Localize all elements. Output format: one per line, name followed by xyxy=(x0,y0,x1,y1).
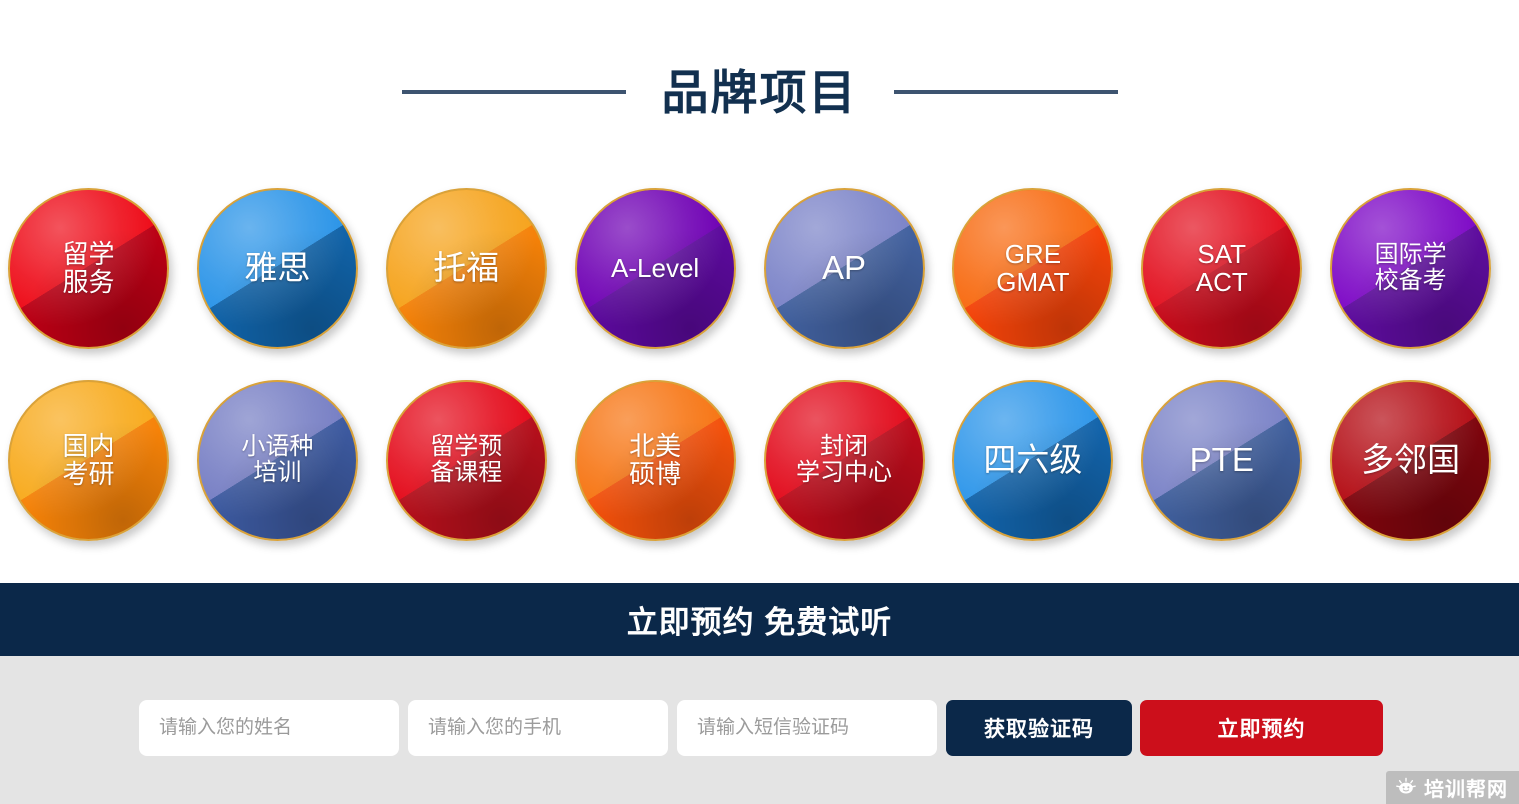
page-title: 品牌项目 xyxy=(662,69,858,116)
program-bubble-label: 北美 硕博 xyxy=(623,432,687,488)
program-cell: 留学预 备课程 xyxy=(386,380,575,541)
cta-banner-text: 立即预约 免费试听 xyxy=(627,597,893,642)
program-bubble[interactable]: 留学 服务 xyxy=(8,188,169,349)
program-bubble-label: 四六级 xyxy=(977,442,1088,478)
program-bubble-label: 留学预 备课程 xyxy=(424,434,508,486)
program-bubble[interactable]: GRE GMAT xyxy=(952,188,1113,349)
watermark-text: 培训帮网 xyxy=(1424,773,1508,802)
program-row-1: 留学 服务雅思托福A-LevelAPGRE GMATSAT ACT国际学 校备考 xyxy=(0,172,1519,364)
program-bubble[interactable]: 四六级 xyxy=(952,380,1113,541)
program-cell: 国内 考研 xyxy=(8,380,197,541)
program-bubble-label: 小语种 培训 xyxy=(235,434,319,486)
program-bubble-label: A-Level xyxy=(605,254,705,282)
program-cell: 托福 xyxy=(386,188,575,349)
program-cell: SAT ACT xyxy=(1141,188,1330,349)
program-cell: A-Level xyxy=(575,188,764,349)
sms-code-input[interactable] xyxy=(677,700,937,756)
program-cell: AP xyxy=(764,188,953,349)
program-bubble-label: AP xyxy=(816,250,872,286)
program-cell: 留学 服务 xyxy=(8,188,197,349)
program-bubble-label: 托福 xyxy=(427,250,505,286)
program-cell: 雅思 xyxy=(197,188,386,349)
program-bubble[interactable]: PTE xyxy=(1141,380,1302,541)
sun-face-icon xyxy=(1395,777,1417,799)
program-bubble-label: GRE GMAT xyxy=(990,240,1075,296)
program-bubble[interactable]: A-Level xyxy=(575,188,736,349)
cta-banner: 立即预约 免费试听 xyxy=(0,583,1519,656)
program-cell: GRE GMAT xyxy=(952,188,1141,349)
name-input[interactable] xyxy=(139,700,399,756)
title-rule-left xyxy=(402,90,626,94)
program-bubble-label: 封闭 学习中心 xyxy=(790,434,898,486)
program-bubble[interactable]: 国际学 校备考 xyxy=(1330,188,1491,349)
program-bubble[interactable]: 多邻国 xyxy=(1330,380,1491,541)
program-bubble-label: 留学 服务 xyxy=(56,240,120,296)
program-row-2: 国内 考研小语种 培训留学预 备课程北美 硕博封闭 学习中心四六级PTE多邻国 xyxy=(0,364,1519,556)
program-bubble-label: 多邻国 xyxy=(1355,442,1466,478)
program-bubble[interactable]: 托福 xyxy=(386,188,547,349)
program-bubble[interactable]: 封闭 学习中心 xyxy=(764,380,925,541)
program-bubble[interactable]: 雅思 xyxy=(197,188,358,349)
program-bubble[interactable]: 小语种 培训 xyxy=(197,380,358,541)
program-bubble[interactable]: 留学预 备课程 xyxy=(386,380,547,541)
booking-form: 获取验证码 立即预约 xyxy=(139,700,1383,756)
program-bubble-label: 国内 考研 xyxy=(56,432,120,488)
program-bubble[interactable]: SAT ACT xyxy=(1141,188,1302,349)
program-bubble-label: 雅思 xyxy=(238,250,316,286)
page-header: 品牌项目 xyxy=(0,0,1519,172)
get-code-button[interactable]: 获取验证码 xyxy=(946,700,1132,756)
submit-booking-button[interactable]: 立即预约 xyxy=(1140,700,1383,756)
program-bubble-label: PTE xyxy=(1184,442,1260,478)
program-cell: 四六级 xyxy=(952,380,1141,541)
site-watermark: 培训帮网 xyxy=(1386,771,1519,804)
program-cell: 小语种 培训 xyxy=(197,380,386,541)
title-rule-right xyxy=(894,90,1118,94)
program-bubble-label: 国际学 校备考 xyxy=(1369,242,1453,294)
phone-input[interactable] xyxy=(408,700,668,756)
program-cell: 北美 硕博 xyxy=(575,380,764,541)
program-cell: PTE xyxy=(1141,380,1330,541)
program-bubble[interactable]: 北美 硕博 xyxy=(575,380,736,541)
program-grid: 留学 服务雅思托福A-LevelAPGRE GMATSAT ACT国际学 校备考… xyxy=(0,172,1519,556)
program-bubble[interactable]: AP xyxy=(764,188,925,349)
program-cell: 多邻国 xyxy=(1330,380,1519,541)
program-bubble-label: SAT ACT xyxy=(1190,240,1254,296)
program-bubble[interactable]: 国内 考研 xyxy=(8,380,169,541)
booking-form-strip: 获取验证码 立即预约 xyxy=(0,656,1519,804)
program-cell: 封闭 学习中心 xyxy=(764,380,953,541)
program-cell: 国际学 校备考 xyxy=(1330,188,1519,349)
